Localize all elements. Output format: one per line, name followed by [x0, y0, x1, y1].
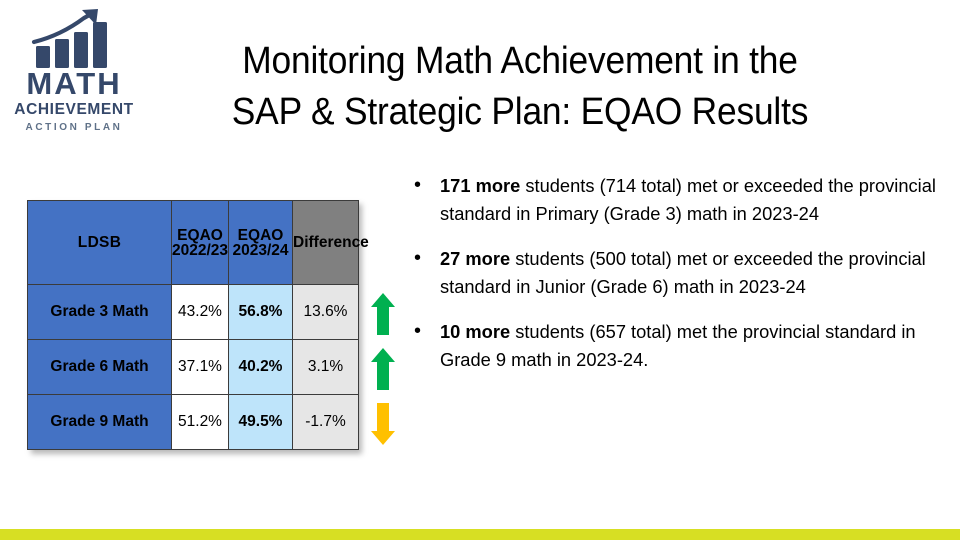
- logo-line-math: MATH: [14, 68, 134, 99]
- trend-down-arrow-icon-grade-9: [360, 396, 406, 451]
- bullet-marker: •: [414, 318, 421, 345]
- list-item: • 27 more students (500 total) met or ex…: [406, 245, 952, 300]
- cell-grade-9-prev: 51.2%: [172, 395, 229, 450]
- row-label-grade-9: Grade 9 Math: [28, 395, 172, 450]
- bullet-highlight: 27 more: [440, 248, 510, 269]
- page-title-line-2: SAP & Strategic Plan: EQAO Results: [176, 87, 864, 138]
- bullet-body: students (657 total) met the provincial …: [440, 321, 916, 370]
- table-header-row: LDSB EQAO 2022/23 EQAO 2023/24 Differenc…: [28, 201, 359, 285]
- eqao-results-table: LDSB EQAO 2022/23 EQAO 2023/24 Differenc…: [27, 200, 359, 450]
- logo-line-action-plan: ACTION PLAN: [14, 123, 134, 133]
- logo-line-achievement: ACHIEVEMENT: [14, 102, 134, 118]
- bullet-text: 27 more students (500 total) met or exce…: [440, 248, 926, 297]
- table-header-eqao-2022-23: EQAO 2022/23: [172, 201, 229, 285]
- list-item: • 10 more students (657 total) met the p…: [406, 318, 952, 373]
- bullet-highlight: 171 more: [440, 175, 520, 196]
- trend-arrow-column: [360, 200, 406, 450]
- cell-grade-3-difference: 13.6%: [293, 285, 359, 340]
- table-row: Grade 9 Math 51.2% 49.5% -1.7%: [28, 395, 359, 450]
- page-title: Monitoring Math Achievement in the SAP &…: [176, 36, 864, 138]
- cell-grade-3-prev: 43.2%: [172, 285, 229, 340]
- table-header-eqao-2022-23-line2: 2022/23: [172, 243, 228, 258]
- row-label-grade-3: Grade 3 Math: [28, 285, 172, 340]
- rising-bar-chart-arrow-icon: [30, 8, 122, 70]
- table-header-difference: Difference: [293, 201, 359, 285]
- bullet-body: students (500 total) met or exceeded the…: [440, 248, 926, 297]
- cell-grade-6-current: 40.2%: [229, 340, 293, 395]
- cell-grade-9-difference: -1.7%: [293, 395, 359, 450]
- table-header-ldsb: LDSB: [28, 201, 172, 285]
- trend-up-arrow-icon-grade-6: [360, 341, 406, 396]
- cell-grade-6-prev: 37.1%: [172, 340, 229, 395]
- table-header-eqao-2023-24-line2: 2023/24: [229, 243, 292, 258]
- math-achievement-action-plan-logo: MATH ACHIEVEMENT ACTION PLAN: [14, 6, 134, 134]
- trend-up-arrow-icon-grade-3: [360, 286, 406, 341]
- row-label-grade-6: Grade 6 Math: [28, 340, 172, 395]
- logo-wordmark: MATH ACHIEVEMENT ACTION PLAN: [14, 68, 134, 133]
- cell-grade-3-current: 56.8%: [229, 285, 293, 340]
- bullet-text: 171 more students (714 total) met or exc…: [440, 175, 936, 224]
- table-header-eqao-2023-24-line1: EQAO: [229, 228, 292, 243]
- bullet-marker: •: [414, 245, 421, 272]
- table-header-eqao-2023-24: EQAO 2023/24: [229, 201, 293, 285]
- table-row: Grade 3 Math 43.2% 56.8% 13.6%: [28, 285, 359, 340]
- footer-accent-bar: [0, 529, 960, 540]
- cell-grade-9-current: 49.5%: [229, 395, 293, 450]
- summary-bullet-list: • 171 more students (714 total) met or e…: [406, 172, 952, 391]
- page-title-line-1: Monitoring Math Achievement in the: [176, 36, 864, 87]
- bullet-marker: •: [414, 172, 421, 199]
- table-header-eqao-2022-23-line1: EQAO: [172, 228, 228, 243]
- table-row: Grade 6 Math 37.1% 40.2% 3.1%: [28, 340, 359, 395]
- bullet-text: 10 more students (657 total) met the pro…: [440, 321, 916, 370]
- cell-grade-6-difference: 3.1%: [293, 340, 359, 395]
- slide: MATH ACHIEVEMENT ACTION PLAN Monitoring …: [0, 0, 960, 540]
- bullet-highlight: 10 more: [440, 321, 510, 342]
- list-item: • 171 more students (714 total) met or e…: [406, 172, 952, 227]
